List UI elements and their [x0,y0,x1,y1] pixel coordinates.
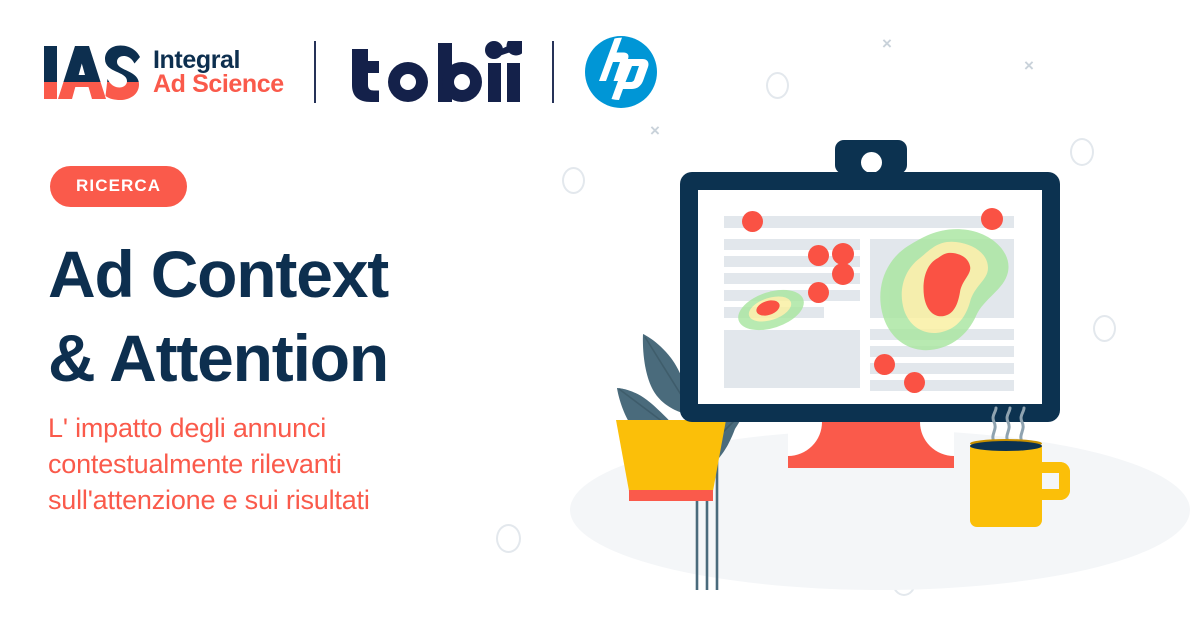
eye-tracking-illustration [540,110,1180,580]
poster-canvas: × × × × × [0,0,1200,628]
subtitle-line-3: sull'attenzione e sui risultati [48,483,518,519]
page-subtitle: L' impatto degli annunci contestualmente… [48,411,518,519]
decorative-circle-icon [766,72,789,99]
ias-logo: Integral Ad Science [44,44,284,100]
mug-body [970,445,1042,527]
plant-pot [616,420,726,492]
gaze-heatmap-large [864,224,1024,364]
screen-image-block [724,330,860,388]
headline-line-1: Ad Context [48,237,388,311]
gaze-dot [874,354,895,375]
ias-word-integral: Integral [153,48,284,73]
gaze-dot [808,282,829,303]
page-title: Ad Context & Attention [48,232,568,401]
monitor-screen [698,190,1042,404]
mug-coffee-surface [970,441,1042,451]
subtitle-line-2: contestualmente rilevanti [48,447,518,483]
decorative-cross-icon: × [882,35,892,52]
gaze-dot [832,263,854,285]
decorative-cross-icon: × [1024,57,1034,74]
logo-divider [552,41,554,103]
gaze-heatmap-small [734,288,808,332]
subtitle-line-1: L' impatto degli annunci [48,411,518,447]
logo-divider [314,41,316,103]
webcam-lens-icon [861,152,882,173]
status-badge: RICERCA [50,166,187,207]
gaze-dot [742,211,763,232]
ias-word-ad-science: Ad Science [153,72,284,97]
ias-wordmark: Integral Ad Science [153,48,284,97]
gaze-dot [808,245,829,266]
screen-text-bar [870,380,1014,391]
steam-icon [980,402,1040,444]
mug-handle [1036,462,1070,500]
headline-line-2: & Attention [48,316,568,400]
ias-mark-icon [44,44,142,100]
tobii-logo [346,41,522,103]
partner-logo-bar: Integral Ad Science [44,34,658,110]
decorative-circle-icon [496,524,521,553]
plant-pot-base [629,490,713,501]
gaze-dot [904,372,925,393]
hp-logo [584,35,658,109]
gaze-dot [981,208,1003,230]
gaze-dot [832,243,854,265]
